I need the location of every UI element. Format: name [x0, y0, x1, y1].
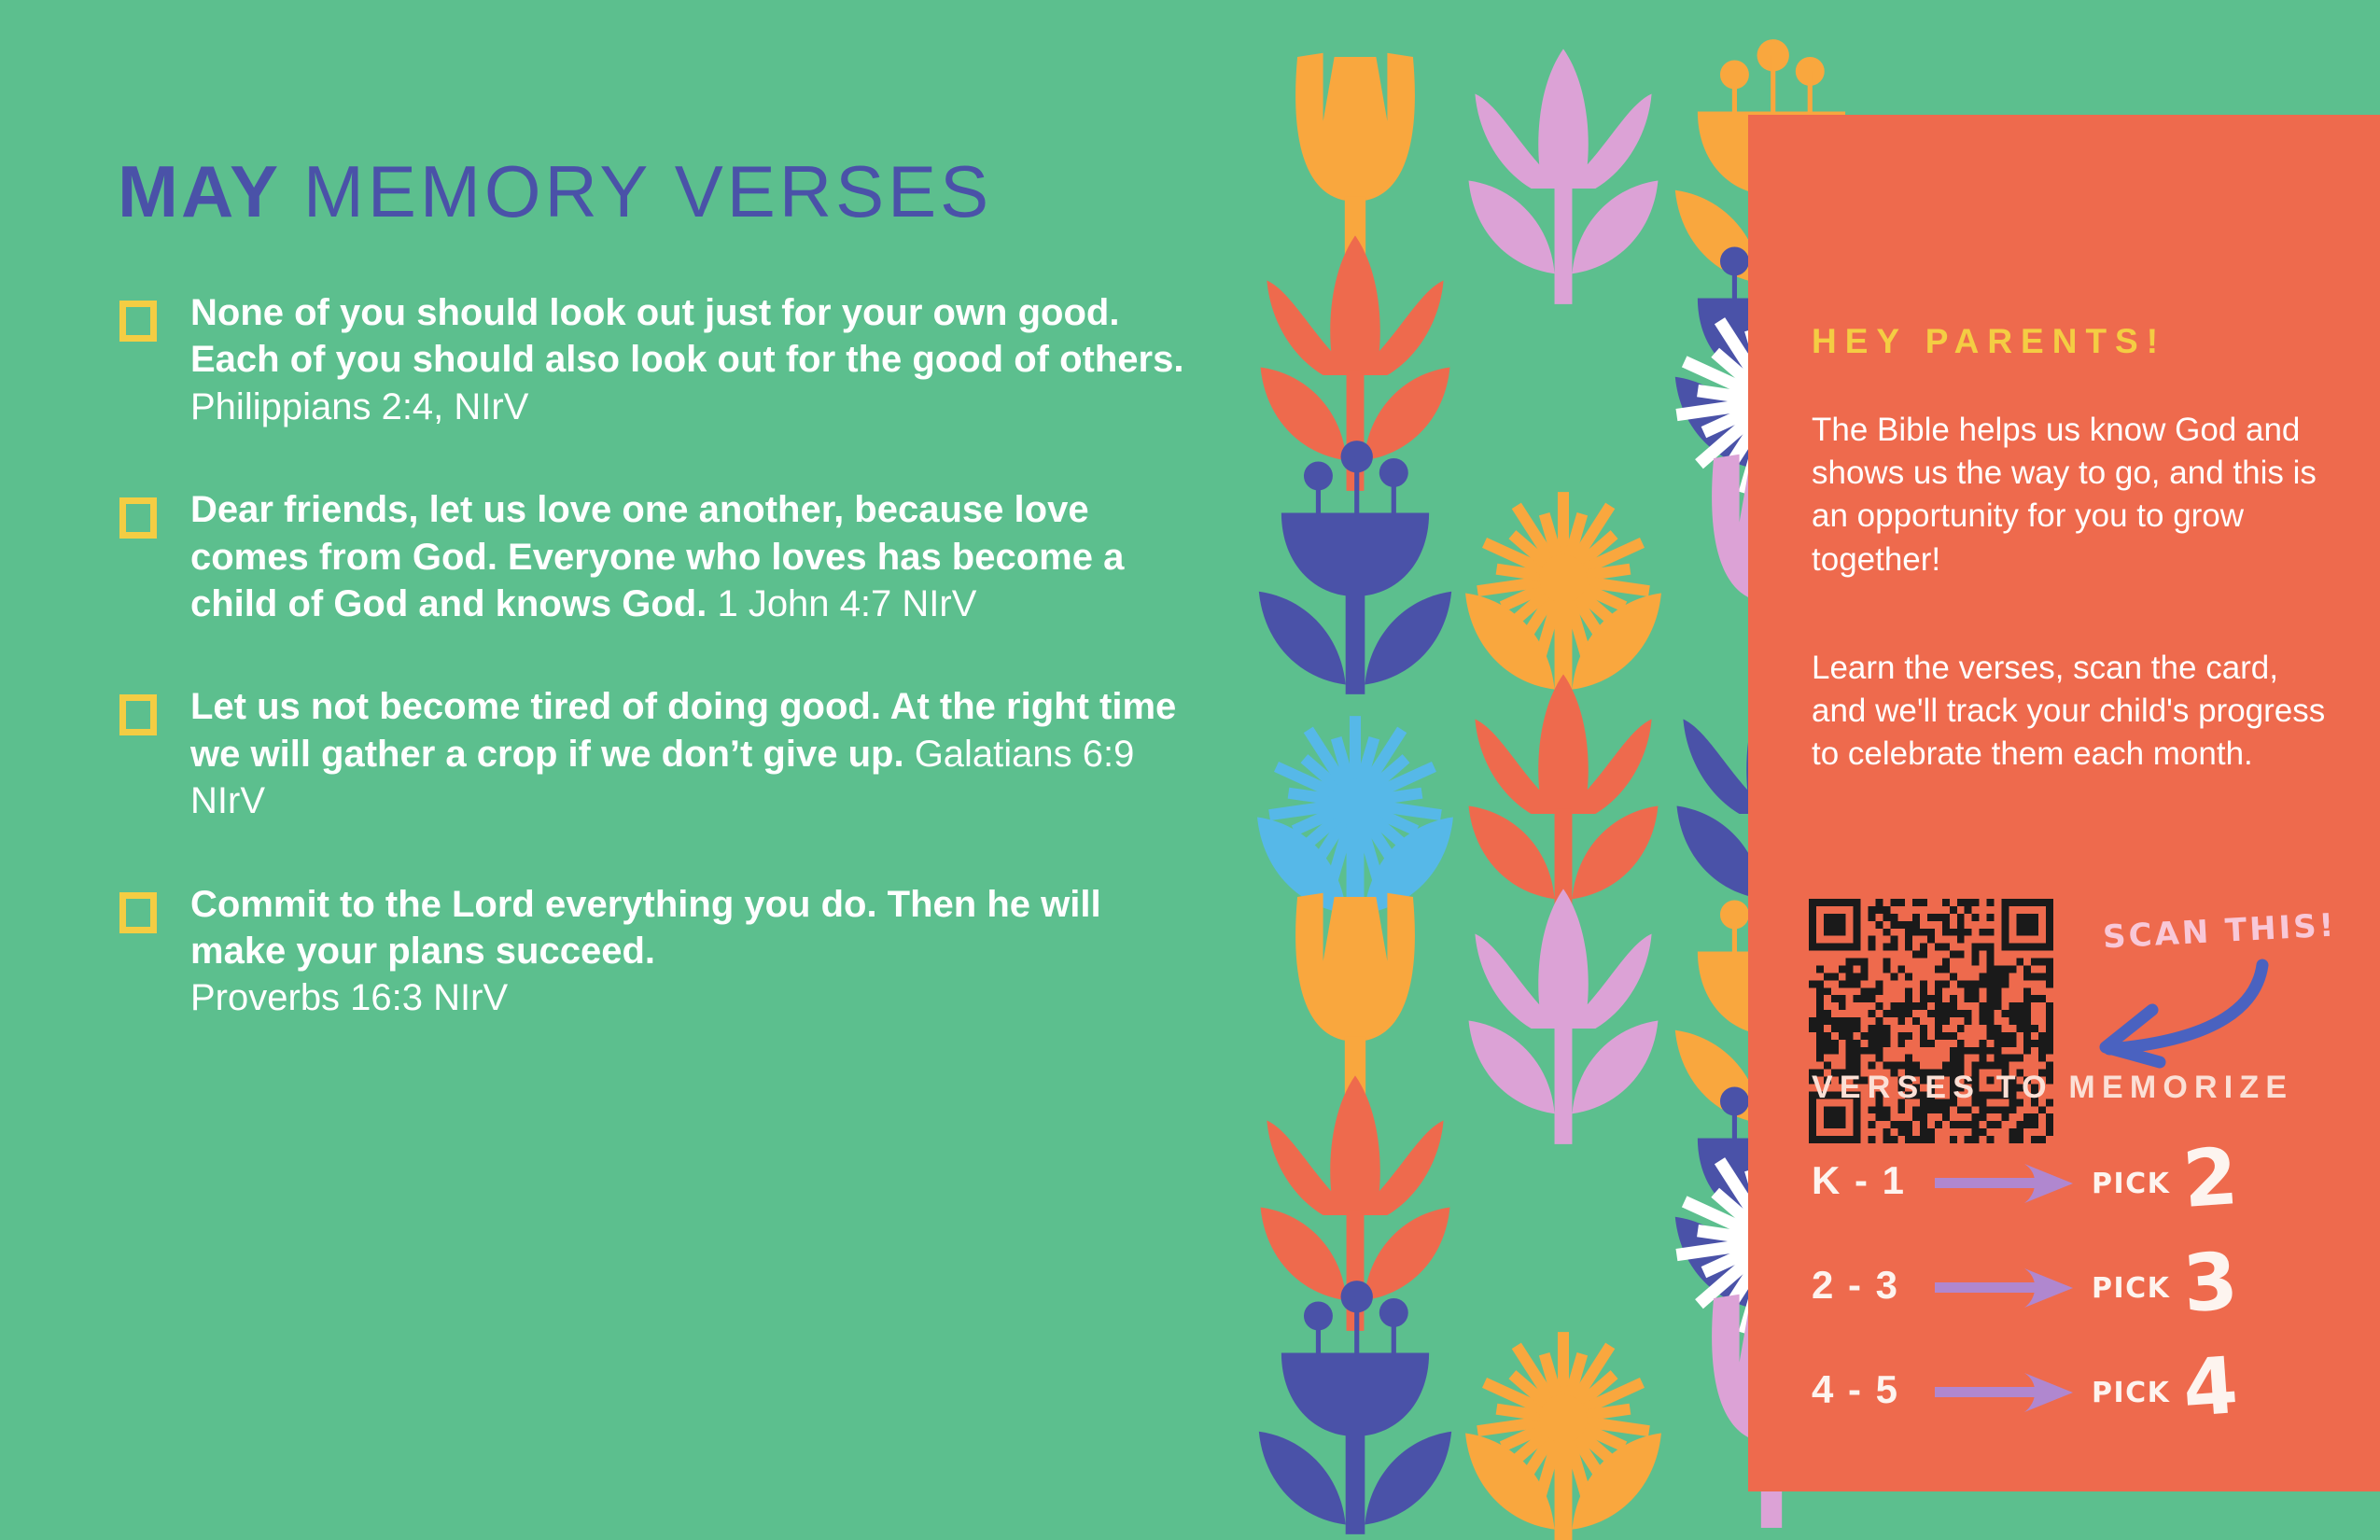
parents-paragraph-1: The Bible helps us know God and shows us… [1812, 409, 2334, 581]
memorize-row: K - 1PICK2 [1812, 1141, 2372, 1246]
flower-burst [1465, 1332, 1661, 1540]
scan-arrow-icon [2079, 950, 2275, 1071]
right-arrow-icon [1935, 1162, 2075, 1205]
verse-reference: Philippians 2:4, NIrV [190, 384, 1202, 430]
memorize-pick-label: PICK [2092, 1168, 2170, 1200]
page-title-rest: MEMORY VERSES [303, 150, 992, 232]
memorize-grade-label: K - 1 [1812, 1158, 1906, 1203]
memorize-heading: VERSES TO MEMORIZE [1812, 1070, 2293, 1106]
memorize-rows: K - 1PICK22 - 3PICK34 - 5PICK4 [1812, 1141, 2372, 1455]
qr-code-svg[interactable] [1809, 899, 2053, 1143]
verse-reference: Proverbs 16:3 NIrV [190, 974, 1202, 1021]
verse-text: Dear friends, let us love one another, b… [190, 489, 1124, 624]
verse-text: None of you should look out just for you… [190, 292, 1183, 380]
flower-bell [1259, 1281, 1451, 1534]
verse-row: Dear friends, let us love one another, b… [119, 486, 1202, 627]
parents-paragraph-2: Learn the verses, scan the card, and we'… [1812, 647, 2334, 777]
memorize-grade-label: 4 - 5 [1812, 1367, 1899, 1412]
parents-panel-heading: HEY PARENTS! [1812, 322, 2166, 361]
verse-text: Commit to the Lord everything you do. Th… [190, 884, 1101, 972]
page-title: MAY MEMORY VERSES [118, 149, 992, 234]
parents-panel: HEY PARENTS! The Bible helps us know God… [1748, 115, 2380, 1491]
memorize-pick-label: PICK [2092, 1377, 2170, 1409]
verse-checkbox[interactable] [119, 694, 157, 735]
flower-petal [1469, 49, 1659, 303]
right-arrow-icon [1935, 1371, 2075, 1414]
memory-verse-card: MAY MEMORY VERSES None of you should loo… [0, 0, 2380, 1540]
verse-row: Commit to the Lord everything you do. Th… [119, 881, 1202, 1022]
verse-body: Commit to the Lord everything you do. Th… [190, 881, 1202, 1022]
verse-checkbox[interactable] [119, 497, 157, 539]
verse-checkbox[interactable] [119, 301, 157, 342]
qr-code[interactable] [1809, 899, 2053, 1143]
memorize-count: 4 [2180, 1339, 2241, 1435]
verse-reference: 1 John 4:7 NIrV [717, 583, 976, 624]
memorize-count: 3 [2180, 1235, 2241, 1330]
flower-petal [1469, 889, 1659, 1143]
verse-list: None of you should look out just for you… [119, 289, 1202, 1078]
memorize-row: 4 - 5PICK4 [1812, 1351, 2372, 1455]
flower-bell [1259, 441, 1451, 694]
scan-this-label: SCAN THIS! [2102, 906, 2337, 956]
verse-row: None of you should look out just for you… [119, 289, 1202, 430]
verse-body: Let us not become tired of doing good. A… [190, 683, 1202, 824]
verse-row: Let us not become tired of doing good. A… [119, 683, 1202, 824]
verses-column: MAY MEMORY VERSES None of you should loo… [0, 0, 1251, 1540]
verse-body: None of you should look out just for you… [190, 289, 1202, 430]
memorize-count: 2 [2180, 1130, 2241, 1225]
page-title-month: MAY [118, 150, 281, 232]
verse-body: Dear friends, let us love one another, b… [190, 486, 1202, 627]
verse-checkbox[interactable] [119, 892, 157, 933]
right-arrow-icon [1935, 1267, 2075, 1309]
memorize-grade-label: 2 - 3 [1812, 1263, 1899, 1308]
memorize-row: 2 - 3PICK3 [1812, 1246, 2372, 1351]
memorize-pick-label: PICK [2092, 1272, 2170, 1305]
